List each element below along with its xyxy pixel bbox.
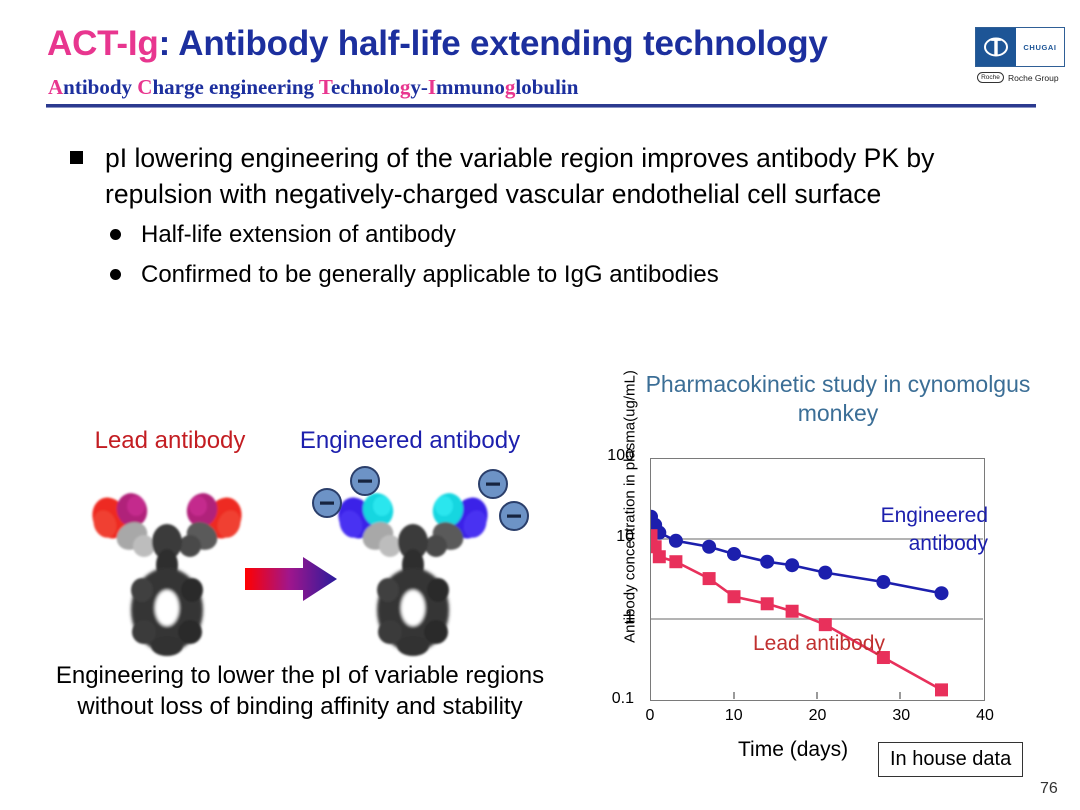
chart-y-tick-label: 0.1 xyxy=(574,690,634,708)
bullet-list: pI lowering engineering of the variable … xyxy=(70,140,1030,292)
chart-x-tick-label: 20 xyxy=(798,707,838,725)
round-bullet-icon xyxy=(110,229,121,240)
subtitle-text-run: lobulin xyxy=(515,75,578,99)
chart-title: Pharmacokinetic study in cynomolgus monk… xyxy=(638,370,1038,428)
bullet-level1-text: pI lowering engineering of the variable … xyxy=(105,140,985,212)
title-remainder: : Antibody half-life extending technolog… xyxy=(159,24,828,63)
page-title: ACT-Ig: Antibody half-life extending tec… xyxy=(47,24,828,64)
chart-x-tick-label: 40 xyxy=(965,707,1005,725)
header-divider xyxy=(46,104,1036,108)
lead-antibody-label: Lead antibody xyxy=(60,427,280,455)
round-bullet-icon xyxy=(110,269,121,280)
logo-box: CHUGAI xyxy=(975,27,1065,67)
roche-group-lockup: Roche Roche Group xyxy=(977,72,1059,83)
subtitle-acronym-letter: I xyxy=(428,75,436,99)
subtitle-text-run: harge engineering xyxy=(152,75,318,99)
logo-company-name: CHUGAI xyxy=(1016,28,1064,66)
bullet-level2-item: Half-life extension of antibody xyxy=(110,218,1030,252)
bullet-level1: pI lowering engineering of the variable … xyxy=(70,140,1030,212)
chart-y-tick-label: 10 xyxy=(574,528,634,546)
subtitle-acronym-letter: T xyxy=(319,75,331,99)
chart-y-tick-label: 100 xyxy=(574,447,634,465)
antibody-engineering-diagram: Lead antibody Engineered antibody xyxy=(30,415,590,780)
chugai-mark-icon xyxy=(976,28,1016,66)
slide-header: ACT-Ig: Antibody half-life extending tec… xyxy=(0,0,1080,112)
chart-legend-engineered: Engineered antibody xyxy=(848,502,988,558)
subtitle-text-run: mmuno xyxy=(436,75,505,99)
subtitle-acronym-letter: g xyxy=(400,75,411,99)
chart-plot-area xyxy=(650,458,985,701)
subtitle-text-run: echnolo xyxy=(331,75,400,99)
bullet-level2-item: Confirmed to be generally applicable to … xyxy=(110,258,1030,292)
page-number: 76 xyxy=(1040,780,1058,798)
chart-legend-lead: Lead antibody xyxy=(753,632,885,656)
roche-oval-mark: Roche xyxy=(977,72,1004,83)
subtitle-expansion: Antibody Charge engineering Technology-I… xyxy=(48,75,578,100)
title-acronym: ACT-Ig xyxy=(47,24,159,63)
chart-x-tick-label: 0 xyxy=(630,707,670,725)
roche-group-label: Roche Group xyxy=(1008,73,1059,83)
subtitle-acronym-letter: A xyxy=(48,75,63,99)
subtitle-acronym-letter: C xyxy=(137,75,152,99)
chart-x-tick-label: 30 xyxy=(881,707,921,725)
source-note-badge: In house data xyxy=(878,742,1023,777)
bullet-level2-text: Half-life extension of antibody xyxy=(141,218,456,252)
bullet-level2-text: Confirmed to be generally applicable to … xyxy=(141,258,719,292)
chart-x-axis-label: Time (days) xyxy=(738,738,848,762)
diagram-caption: Engineering to lower the pI of variable … xyxy=(50,660,550,722)
subtitle-acronym-letter: g xyxy=(505,75,516,99)
chart-y-tick-label: 1 xyxy=(574,609,634,627)
square-bullet-icon xyxy=(70,151,83,164)
chugai-roche-logo: CHUGAI Roche Roche Group xyxy=(975,27,1067,89)
subtitle-text-run: ntibody xyxy=(63,75,137,99)
pharmacokinetics-chart: Pharmacokinetic study in cynomolgus monk… xyxy=(578,370,1048,785)
lead-antibody-structure-figure xyxy=(72,470,262,660)
chart-x-tick-label: 10 xyxy=(714,707,754,725)
subtitle-text-run: y- xyxy=(410,75,428,99)
